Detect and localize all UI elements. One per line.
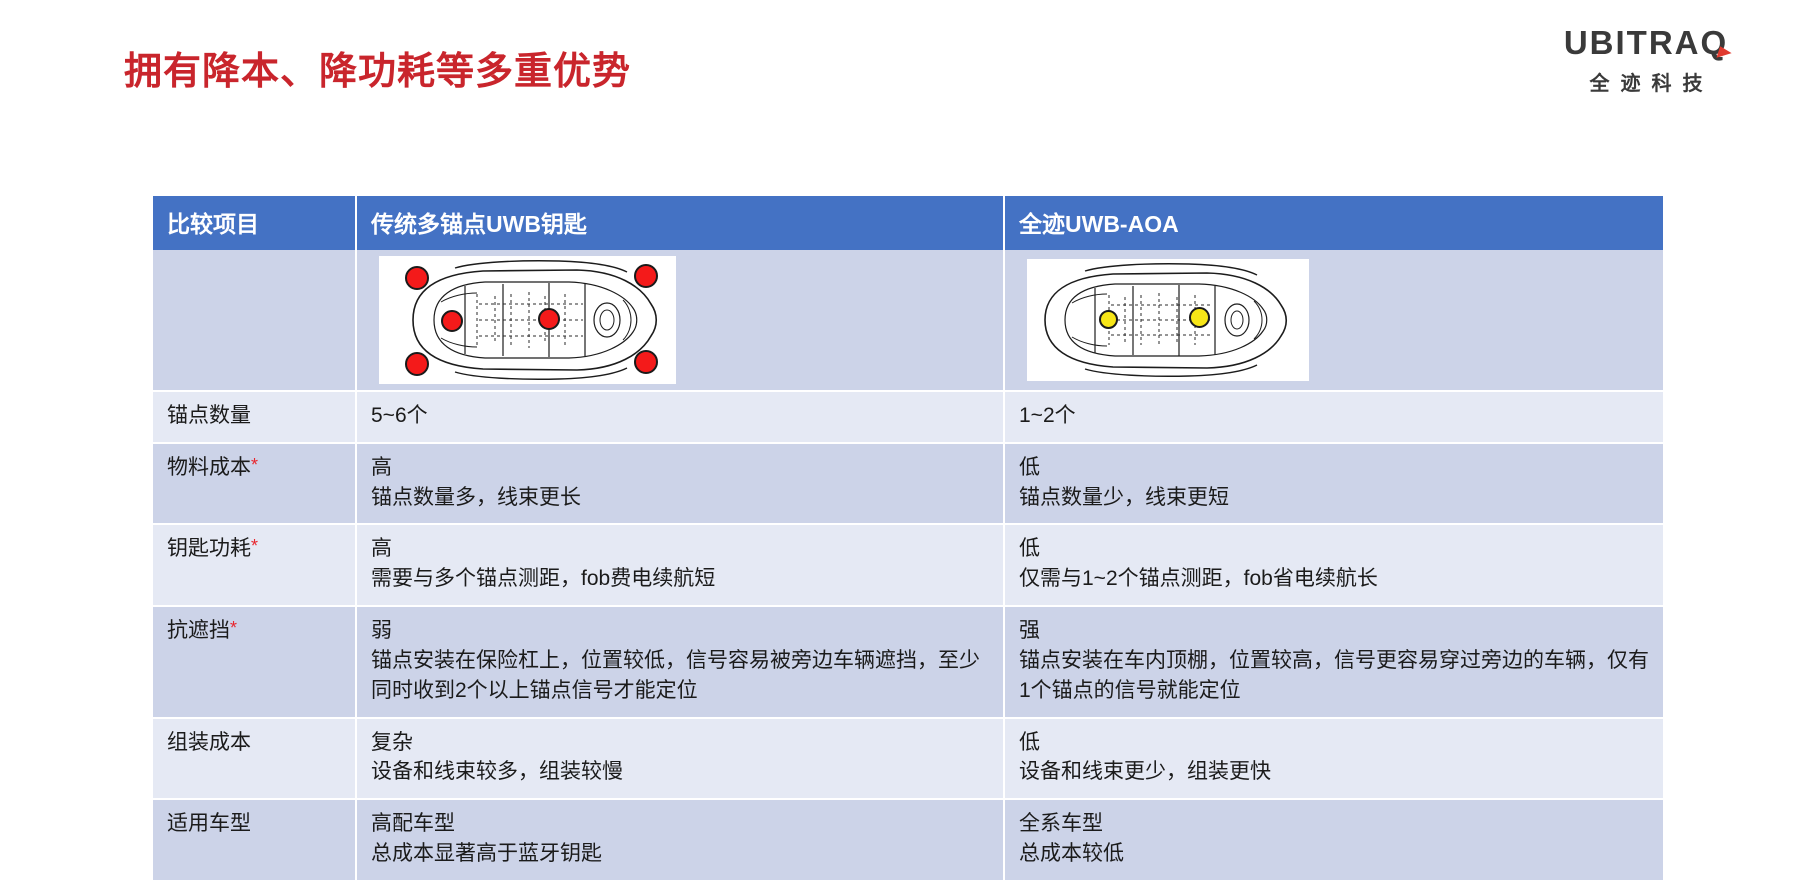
table-row: 抗遮挡* 弱锚点安装在保险杠上，位置较低，信号容易被旁边车辆遮挡，至少同时收到2… <box>153 606 1663 717</box>
figure-cell-aoa <box>1004 250 1663 391</box>
row-cell-aoa: 强锚点安装在车内顶棚，位置较高，信号更容易穿过旁边的车辆，仅有1个锚点的信号就能… <box>1004 606 1663 717</box>
row-label: 适用车型 <box>153 799 356 881</box>
anchor-dot-red-front-left <box>405 266 429 290</box>
logo-wordmark-text: UBITRAQ <box>1564 24 1728 61</box>
row-cell-aoa: 全系车型总成本较低 <box>1004 799 1663 881</box>
logo-wordmark: UBITRAQ <box>1564 26 1728 61</box>
row-cell-legacy: 弱锚点安装在保险杠上，位置较低，信号容易被旁边车辆遮挡，至少同时收到2个以上锚点… <box>356 606 1004 717</box>
row-label-text: 锚点数量 <box>167 404 251 427</box>
cell-detail: 锚点安装在车内顶棚，位置较高，信号更容易穿过旁边的车辆，仅有1个锚点的信号就能定… <box>1019 646 1649 706</box>
cell-headline: 全系车型 <box>1019 809 1649 839</box>
cell-detail: 设备和线束更少，组装更快 <box>1019 757 1649 787</box>
column-header-legacy-uwb: 传统多锚点UWB钥匙 <box>356 196 1004 250</box>
row-label: 组装成本 <box>153 718 356 800</box>
anchor-dot-red-center-left <box>441 310 463 332</box>
row-label-text: 物料成本 <box>167 456 251 479</box>
anchor-dot-red-rear-right <box>634 350 658 374</box>
cell-headline: 高 <box>371 534 989 564</box>
column-header-ubitraq-aoa: 全迹UWB-AOA <box>1004 196 1663 250</box>
row-cell-legacy: 高需要与多个锚点测距，fob费电续航短 <box>356 524 1004 606</box>
anchor-dot-red-center-right <box>538 308 560 330</box>
row-label-asterisk: * <box>251 455 258 475</box>
table-row: 组装成本 复杂设备和线束较多，组装较慢 低设备和线束更少，组装更快 <box>153 718 1663 800</box>
row-cell-legacy: 5~6个 <box>356 391 1004 443</box>
row-label: 钥匙功耗* <box>153 524 356 606</box>
row-cell-aoa: 低仅需与1~2个锚点测距，fob省电续航长 <box>1004 524 1663 606</box>
cell-headline: 低 <box>1019 728 1649 758</box>
row-label-text: 适用车型 <box>167 812 251 835</box>
accent-bar-2 <box>0 0 23 114</box>
cell-headline: 5~6个 <box>371 401 989 431</box>
table-row-figures <box>153 250 1663 391</box>
comparison-table: 比较项目 传统多锚点UWB钥匙 全迹UWB-AOA <box>153 196 1663 882</box>
anchor-dot-yellow-center-right <box>1189 307 1210 328</box>
row-label: 锚点数量 <box>153 391 356 443</box>
cell-detail: 总成本较低 <box>1019 839 1649 869</box>
cell-detail: 需要与多个锚点测距，fob费电续航短 <box>371 564 989 594</box>
cell-headline: 弱 <box>371 616 989 646</box>
car-diagram-aoa <box>1027 259 1309 381</box>
anchor-dot-yellow-center-left <box>1099 310 1118 329</box>
row-label-text: 抗遮挡 <box>167 619 230 642</box>
row-label-asterisk: * <box>251 536 258 556</box>
anchor-dot-red-rear-left <box>405 352 429 376</box>
slide: 拥有降本、降功耗等多重优势 UBITRAQ 全迹科技 比较项目 传统多锚点UWB… <box>0 0 1799 894</box>
row-cell-aoa: 低设备和线束更少，组装更快 <box>1004 718 1663 800</box>
logo-subtitle: 全迹科技 <box>1521 67 1771 96</box>
row-label: 物料成本* <box>153 443 356 525</box>
anchor-dot-red-front-right <box>634 264 658 288</box>
column-header-item: 比较项目 <box>153 196 356 250</box>
cell-detail: 锚点数量多，线束更长 <box>371 483 989 513</box>
car-diagram-legacy <box>379 256 676 384</box>
brand-logo: UBITRAQ 全迹科技 <box>1521 26 1771 96</box>
row-label-text: 组装成本 <box>167 731 251 754</box>
row-cell-aoa: 低锚点数量少，线束更短 <box>1004 443 1663 525</box>
table-row: 锚点数量 5~6个 1~2个 <box>153 391 1663 443</box>
row-label: 抗遮挡* <box>153 606 356 717</box>
cell-headline: 高配车型 <box>371 809 989 839</box>
figure-row-label <box>153 250 356 391</box>
cell-detail: 设备和线束较多，组装较慢 <box>371 757 989 787</box>
page-title: 拥有降本、降功耗等多重优势 <box>124 40 631 95</box>
row-cell-aoa: 1~2个 <box>1004 391 1663 443</box>
table-row: 物料成本* 高锚点数量多，线束更长 低锚点数量少，线束更短 <box>153 443 1663 525</box>
corner-accent-mark <box>0 0 140 130</box>
row-cell-legacy: 高配车型总成本显著高于蓝牙钥匙 <box>356 799 1004 881</box>
cell-detail: 仅需与1~2个锚点测距，fob省电续航长 <box>1019 564 1649 594</box>
row-label-text: 钥匙功耗 <box>167 537 251 560</box>
cell-detail: 总成本显著高于蓝牙钥匙 <box>371 839 989 869</box>
row-label-asterisk: * <box>230 618 237 638</box>
cell-headline: 强 <box>1019 616 1649 646</box>
cell-headline: 复杂 <box>371 728 989 758</box>
table-row: 钥匙功耗* 高需要与多个锚点测距，fob费电续航短 低仅需与1~2个锚点测距，f… <box>153 524 1663 606</box>
row-cell-legacy: 高锚点数量多，线束更长 <box>356 443 1004 525</box>
row-cell-legacy: 复杂设备和线束较多，组装较慢 <box>356 718 1004 800</box>
cell-headline: 低 <box>1019 453 1649 483</box>
cell-detail: 锚点数量少，线束更短 <box>1019 483 1649 513</box>
cell-headline: 1~2个 <box>1019 401 1649 431</box>
figure-cell-legacy <box>356 250 1004 391</box>
table-row: 适用车型 高配车型总成本显著高于蓝牙钥匙 全系车型总成本较低 <box>153 799 1663 881</box>
cell-detail: 锚点安装在保险杠上，位置较低，信号容易被旁边车辆遮挡，至少同时收到2个以上锚点信… <box>371 646 989 706</box>
cell-headline: 高 <box>371 453 989 483</box>
table-header-row: 比较项目 传统多锚点UWB钥匙 全迹UWB-AOA <box>153 196 1663 250</box>
cell-headline: 低 <box>1019 534 1649 564</box>
